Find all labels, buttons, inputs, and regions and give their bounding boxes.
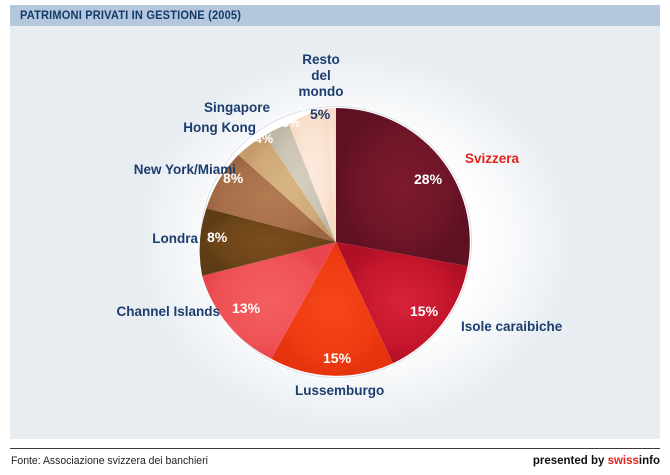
label-resto-del-mondo-line3: mondo [284, 84, 358, 99]
footer-divider [10, 448, 660, 449]
value-channel-islands: 13% [232, 300, 260, 316]
label-isole-caraibiche: Isole caraibiche [461, 319, 562, 334]
value-londra: 8% [207, 229, 227, 245]
label-londra: Londra [105, 231, 198, 246]
page-title: PATRIMONI PRIVATI IN GESTIONE (2005) [20, 8, 241, 22]
label-lussemburgo: Lussemburgo [295, 383, 384, 398]
label-svizzera: Svizzera [465, 151, 519, 166]
value-hong-kong: 4% [255, 132, 273, 146]
footer-brand: presented by swissinfo [533, 455, 660, 467]
chart-page: PATRIMONI PRIVATI IN GESTIONE (2005) [0, 0, 670, 475]
value-lussemburgo: 15% [323, 350, 351, 366]
chart-panel: Svizzera Isole caraibiche Lussemburgo Ch… [10, 26, 660, 439]
label-resto-del-mondo-line1: Resto [284, 52, 358, 67]
title-bar: PATRIMONI PRIVATI IN GESTIONE (2005) [10, 5, 660, 26]
value-new-york-miami: 8% [223, 170, 243, 186]
value-resto-del-mondo: 5% [310, 106, 330, 122]
footer-brand-info: info [639, 455, 660, 467]
pie-slice-svizzera [336, 108, 470, 266]
value-isole-caraibiche: 15% [410, 303, 438, 319]
label-singapore: Singapore [170, 100, 270, 115]
footer-source: Fonte: Associazione svizzera dei banchie… [11, 455, 208, 467]
value-singapore: 3% [282, 116, 300, 130]
value-svizzera: 28% [414, 171, 442, 187]
label-new-york-miami: New York/Miami [100, 162, 236, 177]
label-hong-kong: Hong Kong [156, 120, 256, 135]
footer-brand-swiss: swiss [608, 455, 639, 467]
label-channel-islands: Channel Islands [115, 304, 220, 319]
footer-brand-prefix: presented by [533, 455, 608, 467]
label-resto-del-mondo-line2: del [284, 68, 358, 83]
